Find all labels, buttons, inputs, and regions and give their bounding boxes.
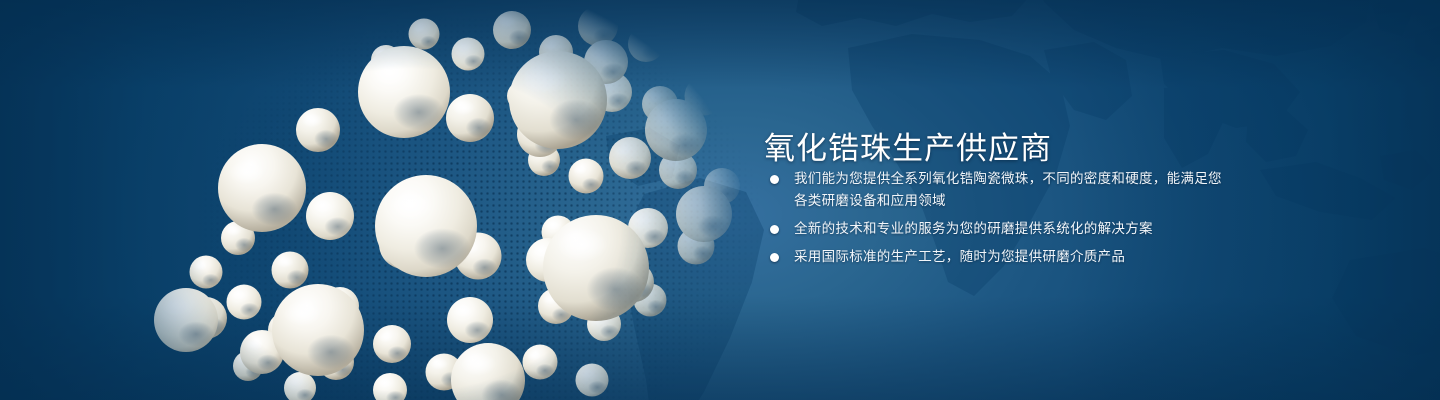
bullet-dot-icon xyxy=(770,175,779,184)
feature-list-item-text: 全新的技术和专业的服务为您的研磨提供系统化的解决方案 xyxy=(794,218,1234,240)
bullet-dot-icon xyxy=(770,225,779,234)
hero-banner: 氧化锆珠生产供应商 我们能为您提供全系列氧化锆陶瓷微珠，不同的密度和硬度，能满足… xyxy=(0,0,1440,400)
bullet-dot-icon xyxy=(770,253,779,262)
banner-title: 氧化锆珠生产供应商 xyxy=(764,129,1052,169)
feature-list-item-text: 采用国际标准的生产工艺，随时为您提供研磨介质产品 xyxy=(794,246,1234,268)
banner-content: 氧化锆珠生产供应商 我们能为您提供全系列氧化锆陶瓷微珠，不同的密度和硬度，能满足… xyxy=(764,0,1384,400)
feature-list-item-text: 我们能为您提供全系列氧化锆陶瓷微珠，不同的密度和硬度，能满足您各类研磨设备和应用… xyxy=(794,168,1234,212)
banner-feature-list: 我们能为您提供全系列氧化锆陶瓷微珠，不同的密度和硬度，能满足您各类研磨设备和应用… xyxy=(764,168,1234,268)
feature-list-item: 全新的技术和专业的服务为您的研磨提供系统化的解决方案 xyxy=(764,218,1234,240)
feature-list-item: 采用国际标准的生产工艺，随时为您提供研磨介质产品 xyxy=(764,246,1234,268)
feature-list-item: 我们能为您提供全系列氧化锆陶瓷微珠，不同的密度和硬度，能满足您各类研磨设备和应用… xyxy=(764,168,1234,212)
